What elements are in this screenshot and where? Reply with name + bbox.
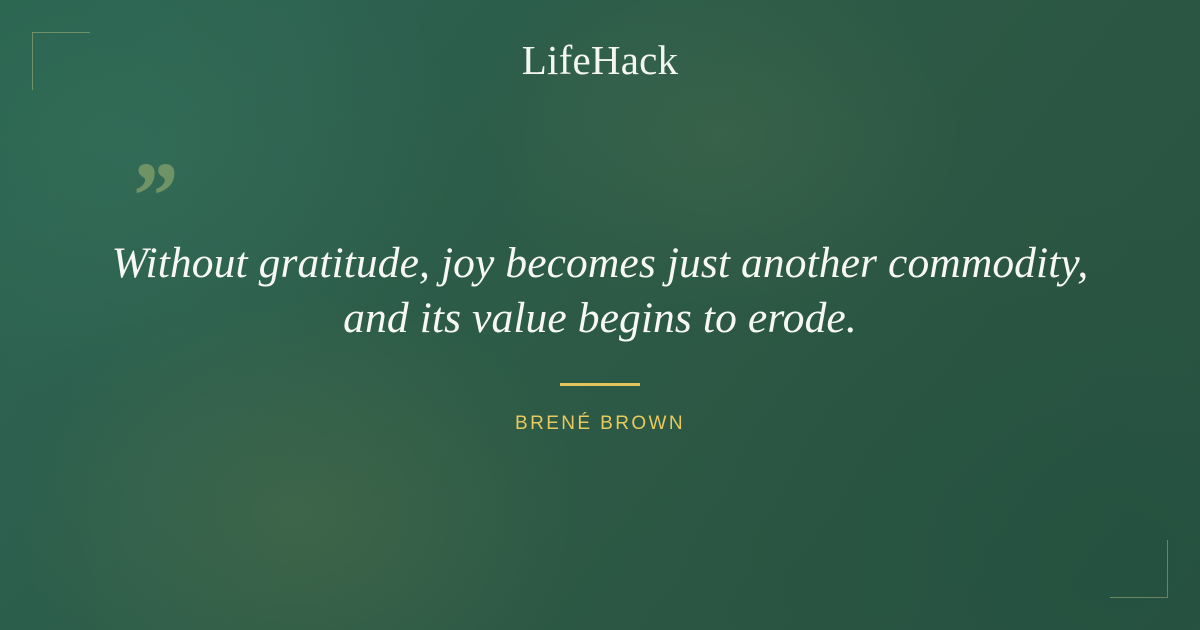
- brand-logo: LifeHack: [0, 38, 1200, 83]
- quote-block: Without gratitude, joy becomes just anot…: [100, 236, 1100, 346]
- quote-text: Without gratitude, joy becomes just anot…: [100, 236, 1100, 346]
- corner-bracket-bottom-right-icon: [1110, 540, 1168, 598]
- quote-author: BRENÉ BROWN: [0, 413, 1200, 435]
- quote-line-2: its value begins to erode.: [420, 294, 857, 342]
- quote-mark-icon: ”: [128, 148, 176, 244]
- quote-card: LifeHack ” Without gratitude, joy become…: [0, 0, 1200, 630]
- gold-divider: [560, 383, 640, 386]
